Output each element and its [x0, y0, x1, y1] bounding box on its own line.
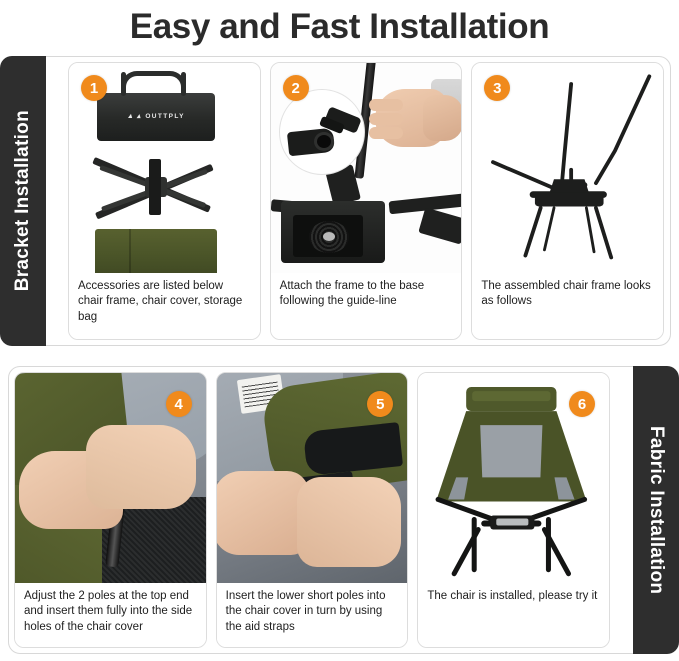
step-panel-3[interactable]: 3 — [471, 62, 664, 340]
bag-handle-arc — [121, 71, 186, 87]
step-image-5: 5 — [217, 373, 408, 583]
fabric-tab-label: Fabric Installation — [645, 426, 667, 594]
mesh-back-panel — [481, 425, 543, 477]
storage-bag-graphic: ▲ ▴OUTTPLY — [97, 93, 215, 141]
step-caption-4: Adjust the 2 poles at the top end and in… — [15, 583, 206, 647]
right-hand — [297, 477, 401, 567]
bag-handle-left — [121, 72, 126, 96]
step-image-4: 4 — [15, 373, 206, 583]
finger — [369, 99, 403, 111]
step-badge-2: 2 — [283, 75, 309, 101]
fabric-installation-tab: Fabric Installation — [633, 366, 679, 654]
step-panel-4[interactable]: 4 Adjust the 2 poles at the top end and … — [14, 372, 207, 648]
step-caption-3: The assembled chair frame looks as follo… — [472, 273, 663, 339]
step-caption-5: Insert the lower short poles into the ch… — [217, 583, 408, 647]
cover-seam — [129, 229, 131, 273]
hand-holding-pole — [375, 89, 447, 147]
bracket-steps-row: 1 ▲ ▴OUTTPLY Accessories are listed belo… — [68, 62, 664, 340]
step-caption-6: The chair is installed, please try it — [418, 583, 609, 647]
step-caption-1: Accessories are listed below chair frame… — [69, 273, 260, 339]
step-badge-6: 6 — [569, 391, 595, 417]
bag-handle-right — [181, 72, 186, 96]
base-center-bolt — [323, 232, 335, 241]
brand-mark-icon: ▲ ▴ — [126, 112, 143, 120]
brand-name: OUTTPLY — [145, 113, 185, 120]
detail-inset-circle — [279, 89, 365, 175]
bracket-installation-tab: Bracket Installation — [0, 56, 46, 346]
chair-cover-graphic — [95, 229, 217, 273]
step-image-6: 6 — [418, 373, 609, 583]
step-panel-1[interactable]: 1 ▲ ▴OUTTPLY Accessories are listed belo… — [68, 62, 261, 340]
left-hand — [217, 471, 309, 555]
step-panel-6[interactable]: 6 The chair is installed, please try it — [417, 372, 610, 648]
finger — [369, 127, 403, 139]
folded-frame-graphic — [91, 155, 221, 217]
right-hand — [86, 425, 196, 509]
step-caption-2: Attach the frame to the base following t… — [271, 273, 462, 339]
step-badge-4: 4 — [166, 391, 192, 417]
frame-strap — [149, 159, 161, 215]
step-panel-5[interactable]: 5 Insert the lower short poles into the … — [216, 372, 409, 648]
finger — [369, 113, 403, 125]
step-panel-2[interactable]: 2 Attach the frame — [270, 62, 463, 340]
brand-logo: ▲ ▴OUTTPLY — [97, 112, 215, 120]
socket-hole — [314, 132, 334, 151]
page-title: Easy and Fast Installation — [0, 0, 679, 52]
fabric-steps-row: 4 Adjust the 2 poles at the top end and … — [14, 372, 610, 648]
step-badge-1: 1 — [81, 75, 107, 101]
bracket-tab-label: Bracket Installation — [12, 110, 34, 291]
